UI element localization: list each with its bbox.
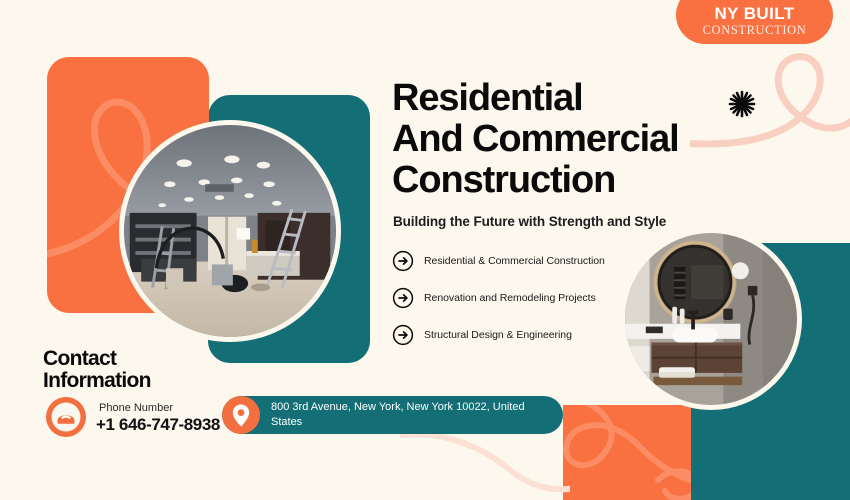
page-title: Residential And Commercial Construction — [392, 78, 752, 201]
headline-line-3: Construction — [392, 160, 752, 201]
interior-construction-photo-image — [124, 125, 336, 337]
subheadline: Building the Future with Strength and St… — [393, 214, 666, 229]
list-item-label: Residential & Commercial Construction — [424, 255, 605, 267]
orange-loop-doodle-icon — [400, 430, 570, 500]
arrow-circle-right-icon — [392, 324, 414, 346]
contact-heading-line-2: Information — [43, 370, 151, 392]
list-item[interactable]: Residential & Commercial Construction — [392, 250, 642, 272]
phone-number[interactable]: +1 646-747-8938 — [96, 415, 220, 434]
arrow-circle-right-icon — [392, 287, 414, 309]
features-list: Residential & Commercial Construction Re… — [392, 250, 642, 361]
contact-heading-line-1: Contact — [43, 348, 151, 370]
phone-contact-row[interactable]: Phone Number +1 646-747-8938 — [45, 396, 220, 438]
orange-bottom-block — [563, 405, 691, 500]
interior-construction-photo — [119, 120, 341, 342]
logo-subtitle: CONSTRUCTION — [703, 23, 807, 37]
list-item-label: Renovation and Remodeling Projects — [424, 292, 596, 304]
list-item[interactable]: Structural Design & Engineering — [392, 324, 642, 346]
address-line-1: 800 3rd Avenue, New York, New York 10022… — [271, 401, 490, 413]
poster-canvas: NY BUILT CONSTRUCTION — [0, 0, 850, 500]
address-text-block: 800 3rd Avenue, New York, New York 10022… — [271, 400, 541, 430]
list-item[interactable]: Renovation and Remodeling Projects — [392, 287, 642, 309]
phone-text-block: Phone Number +1 646-747-8938 — [96, 401, 220, 434]
address-pill[interactable]: 800 3rd Avenue, New York, New York 10022… — [222, 396, 563, 434]
modern-bathroom-photo-image — [625, 233, 797, 405]
headline-line-2: And Commercial — [392, 119, 752, 160]
phone-label: Phone Number — [99, 401, 220, 415]
logo-title: NY BUILT — [714, 5, 794, 23]
asterisk-starburst-icon — [728, 90, 756, 118]
modern-bathroom-photo — [620, 228, 802, 410]
headline-line-1: Residential — [392, 78, 752, 119]
contact-information-heading: Contact Information — [43, 348, 151, 392]
telephone-icon — [45, 396, 87, 438]
list-item-label: Structural Design & Engineering — [424, 329, 572, 341]
orange-loop-doodle-icon — [563, 405, 691, 500]
location-pin-icon — [222, 396, 260, 434]
logo-badge[interactable]: NY BUILT CONSTRUCTION — [676, 0, 833, 44]
arrow-circle-right-icon — [392, 250, 414, 272]
